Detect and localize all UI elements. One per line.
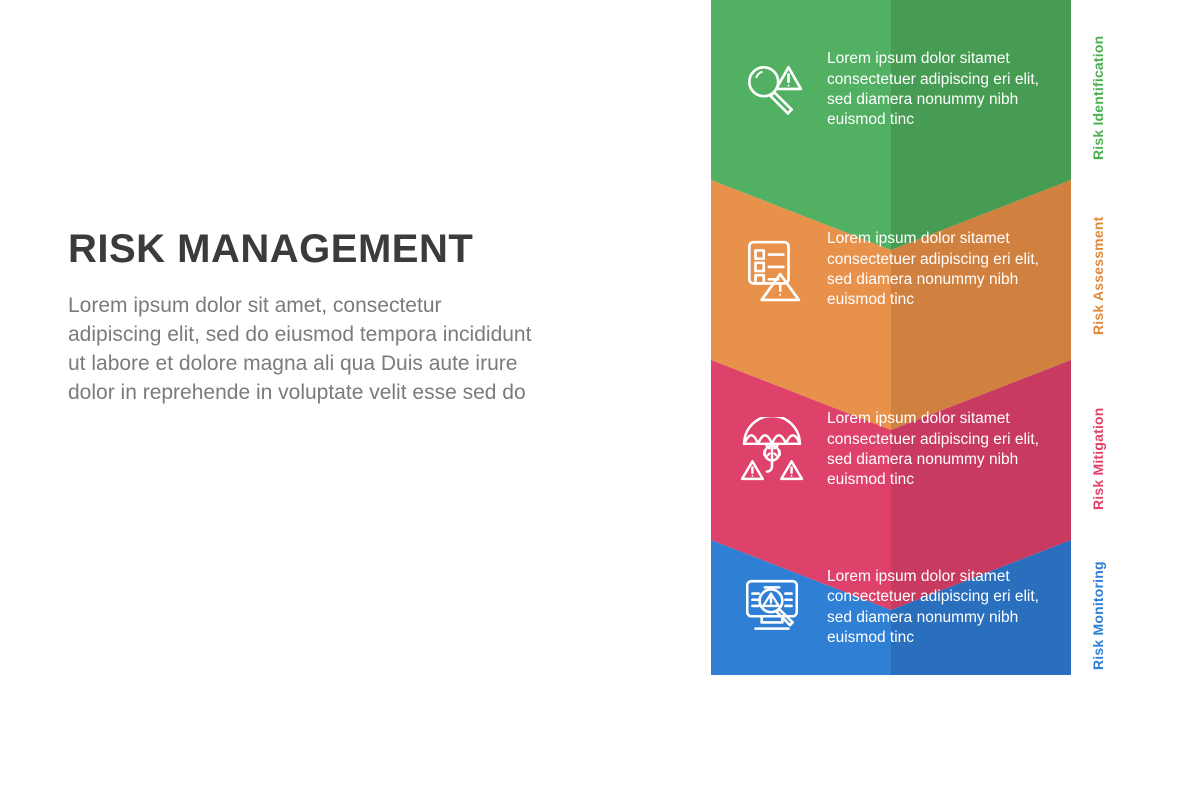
- chevron-content-1: Lorem ipsum dolor sitamet consectetuer a…: [711, 180, 1071, 360]
- chevron-content-2: Lorem ipsum dolor sitamet consectetuer a…: [711, 360, 1071, 540]
- monitor-magnifier-warning-icon: [729, 565, 815, 651]
- magnifier-warning-icon: [729, 47, 815, 133]
- chevron-body-text-0: Lorem ipsum dolor sitamet consectetuer a…: [815, 49, 1071, 131]
- page-description: Lorem ipsum dolor sit amet, consectetur …: [68, 292, 538, 408]
- stage-label-risk-mitigation: Risk Mitigation: [1090, 330, 1118, 510]
- chevron-body-text-2: Lorem ipsum dolor sitamet consectetuer a…: [815, 409, 1071, 491]
- chevron-content-3: Lorem ipsum dolor sitamet consectetuer a…: [711, 540, 1071, 675]
- stage-label-risk-identification: Risk Identification: [1090, 0, 1118, 160]
- chevron-row-risk-monitoring[interactable]: Lorem ipsum dolor sitamet consectetuer a…: [711, 540, 1071, 790]
- chevron-content-0: Lorem ipsum dolor sitamet consectetuer a…: [711, 0, 1071, 180]
- chevron-body-text-3: Lorem ipsum dolor sitamet consectetuer a…: [815, 567, 1071, 649]
- stage-label-column: Risk Identification Risk Assessment Risk…: [1090, 0, 1130, 675]
- stage-label-risk-assessment: Risk Assessment: [1090, 155, 1118, 335]
- stage-label-risk-monitoring: Risk Monitoring: [1090, 490, 1118, 670]
- slide-canvas: RISK MANAGEMENT Lorem ipsum dolor sit am…: [0, 0, 1200, 675]
- left-text-panel: RISK MANAGEMENT Lorem ipsum dolor sit am…: [68, 228, 538, 408]
- chevron-stack: Lorem ipsum dolor sitamet consectetuer a…: [711, 0, 1071, 675]
- page-title: RISK MANAGEMENT: [68, 228, 538, 270]
- chevron-body-text-1: Lorem ipsum dolor sitamet consectetuer a…: [815, 229, 1071, 311]
- checklist-warning-icon: [729, 227, 815, 313]
- umbrella-gear-warning-icon: [729, 407, 815, 493]
